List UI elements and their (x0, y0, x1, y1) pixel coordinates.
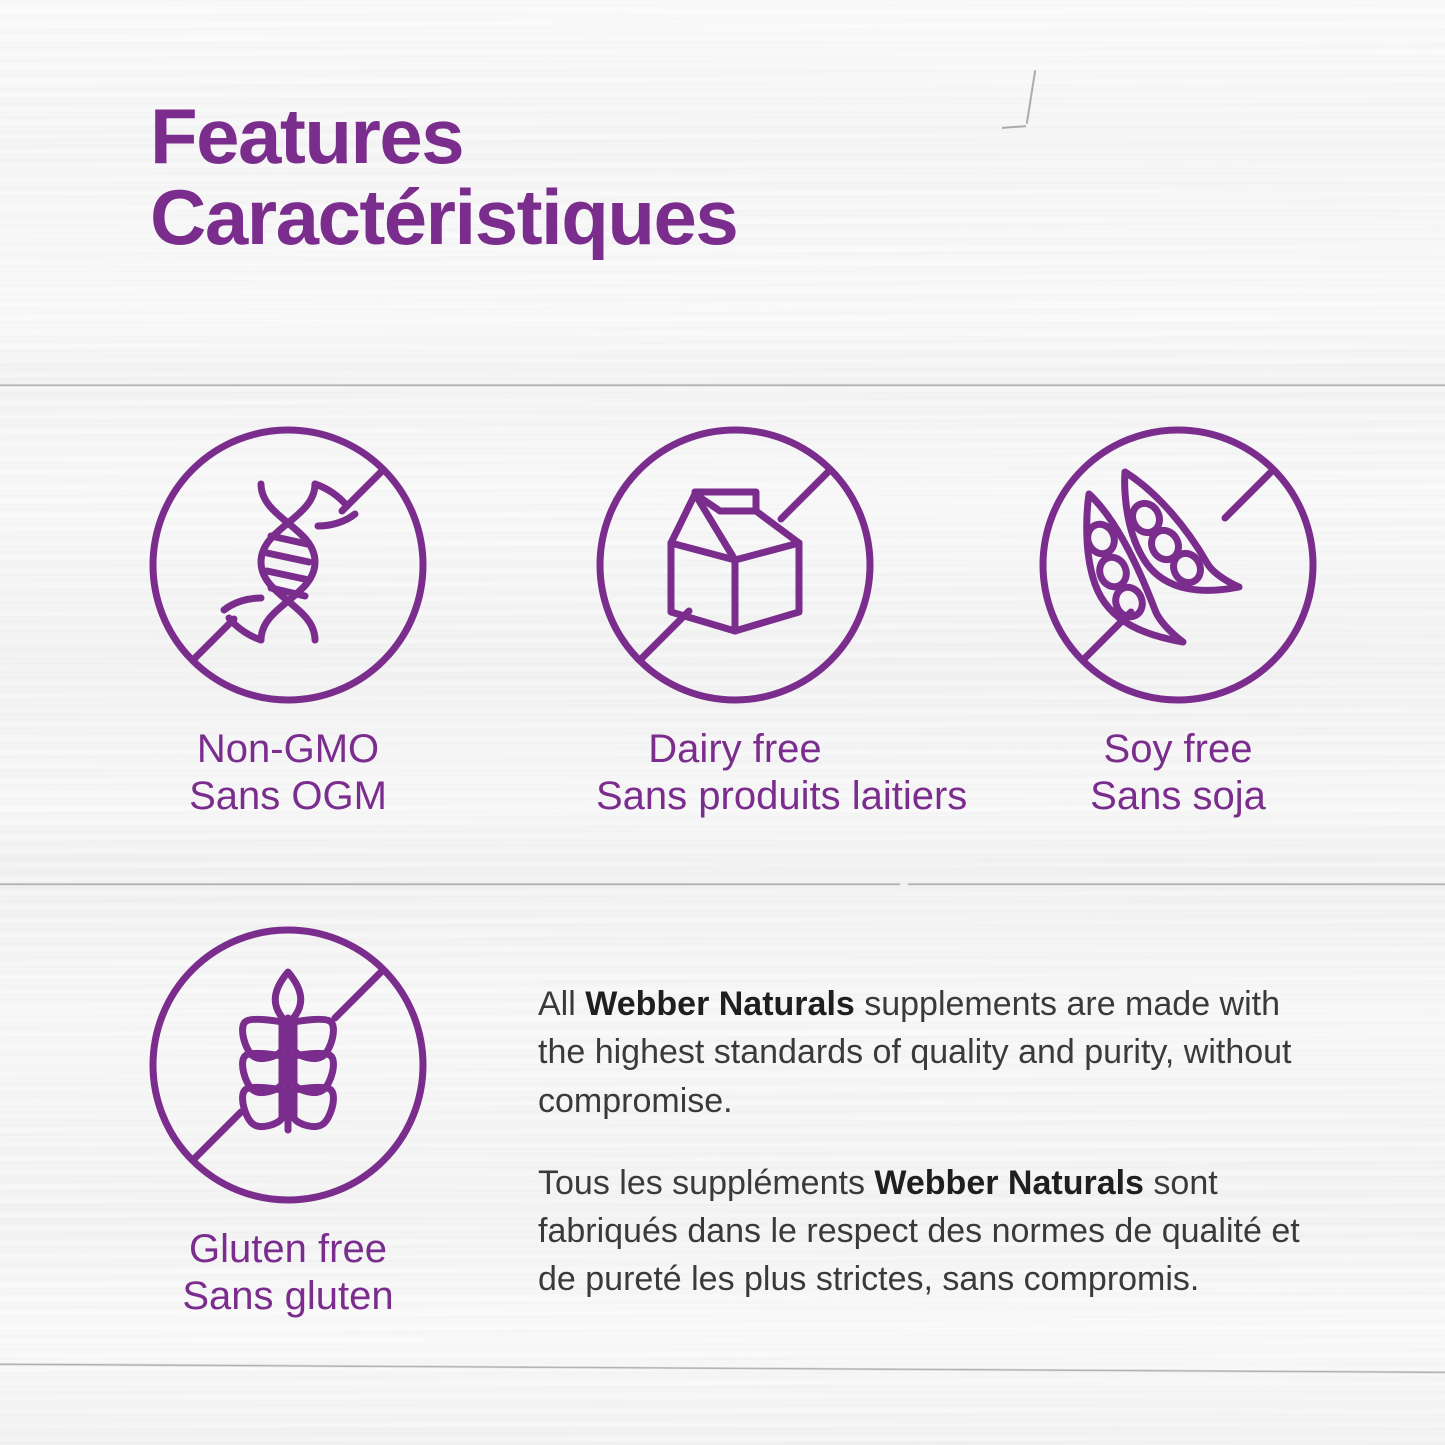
brand-statement: All Webber Naturals supplements are made… (538, 980, 1328, 1338)
feature-label-en: Non-GMO (149, 726, 427, 773)
copy-en-pre: All (538, 985, 585, 1023)
feature-label: Non-GMO Sans OGM (149, 726, 427, 820)
page-title: Features Caractéristiques (150, 96, 1250, 258)
feature-label: Gluten free Sans gluten (149, 1226, 427, 1320)
copy-fr-pre: Tous les suppléments (538, 1164, 874, 1202)
feature-non-gmo: Non-GMO Sans OGM (149, 426, 427, 820)
feature-label: Dairy free Sans produits laitiers (596, 726, 874, 820)
feature-panel: Features Caractéristiques (0, 0, 1445, 1445)
feature-dairy-free: Dairy free Sans produits laitiers (596, 426, 874, 820)
page-title-en: Features (150, 92, 463, 180)
feature-label-fr: Sans soja (1039, 773, 1317, 820)
feature-label: Soy free Sans soja (1039, 726, 1317, 820)
brand-statement-en: All Webber Naturals supplements are made… (538, 980, 1328, 1125)
feature-label-en: Dairy free (596, 726, 874, 773)
feature-label-fr: Sans gluten (149, 1273, 427, 1320)
no-gmo-dna-icon (149, 426, 427, 704)
page-title-fr: Caractéristiques (150, 177, 1250, 258)
no-dairy-milk-carton-icon (596, 426, 874, 704)
feature-label-en: Soy free (1039, 726, 1317, 773)
feature-soy-free: Soy free Sans soja (1039, 426, 1317, 820)
plank-seam-bottom (0, 1363, 1445, 1374)
plank-seam-middle (0, 883, 1445, 886)
no-gluten-wheat-icon (149, 926, 427, 1204)
plank-seam-top (0, 384, 1445, 387)
feature-label-en: Gluten free (149, 1226, 427, 1273)
brand-name-en: Webber Naturals (585, 985, 855, 1023)
no-soy-pods-icon (1039, 426, 1317, 704)
brand-name-fr: Webber Naturals (874, 1164, 1144, 1202)
brand-statement-fr: Tous les suppléments Webber Naturals son… (538, 1159, 1328, 1304)
feature-gluten-free: Gluten free Sans gluten (149, 926, 427, 1320)
feature-label-fr: Sans OGM (149, 773, 427, 820)
feature-label-fr: Sans produits laitiers (596, 773, 874, 820)
